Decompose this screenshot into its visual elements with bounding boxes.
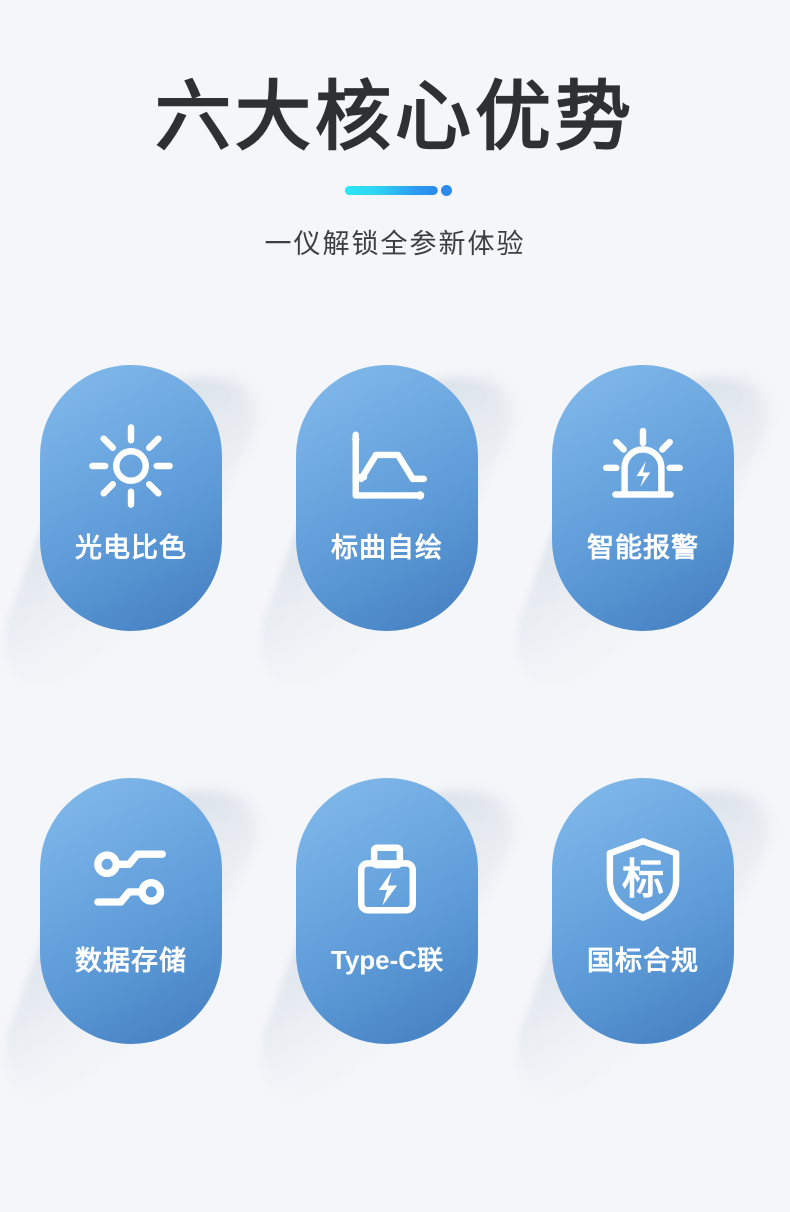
feature-card-cell: 数据存储 xyxy=(40,778,222,1044)
curve-chart-icon xyxy=(341,420,433,512)
feature-highlights-page: 六大核心优势 一仪解锁全参新体验 xyxy=(0,0,790,1212)
feature-card-label: 国标合规 xyxy=(587,945,699,977)
page-title: 六大核心优势 xyxy=(0,0,790,158)
feature-card-label: 标曲自绘 xyxy=(331,532,443,564)
page-subtitle: 一仪解锁全参新体验 xyxy=(0,202,790,261)
divider-dot xyxy=(441,185,452,196)
feature-card-cell: 光电比色 xyxy=(40,365,222,631)
sun-icon xyxy=(85,420,177,512)
data-nodes-icon xyxy=(85,833,177,925)
shield-biao-icon: 标 xyxy=(597,833,689,925)
svg-text:标: 标 xyxy=(622,856,664,903)
alarm-siren-icon xyxy=(597,420,689,512)
feature-card-smart-alarm[interactable]: 智能报警 xyxy=(552,365,734,631)
feature-card-curve-plot[interactable]: 标曲自绘 xyxy=(296,365,478,631)
feature-card-label: 光电比色 xyxy=(75,532,187,564)
feature-card-type-c[interactable]: Type-C联 xyxy=(296,778,478,1044)
feature-card-cell: Type-C联 xyxy=(296,778,478,1044)
feature-card-data-storage[interactable]: 数据存储 xyxy=(40,778,222,1044)
page-header: 六大核心优势 一仪解锁全参新体验 xyxy=(0,0,790,261)
feature-card-grid: 光电比色 xyxy=(0,365,790,1085)
feature-card-cell: 智能报警 xyxy=(552,365,734,631)
divider-bar xyxy=(345,186,438,195)
feature-card-cell: 标 国标合规 xyxy=(552,778,734,1044)
feature-card-cell: 标曲自绘 xyxy=(296,365,478,631)
title-divider xyxy=(0,180,790,202)
feature-card-label: Type-C联 xyxy=(331,945,443,976)
feature-card-national-standard[interactable]: 标 国标合规 xyxy=(552,778,734,1044)
usb-c-bolt-icon xyxy=(341,833,433,925)
feature-card-label: 数据存储 xyxy=(75,945,187,977)
feature-card-photoelectric[interactable]: 光电比色 xyxy=(40,365,222,631)
feature-card-label: 智能报警 xyxy=(587,532,699,564)
